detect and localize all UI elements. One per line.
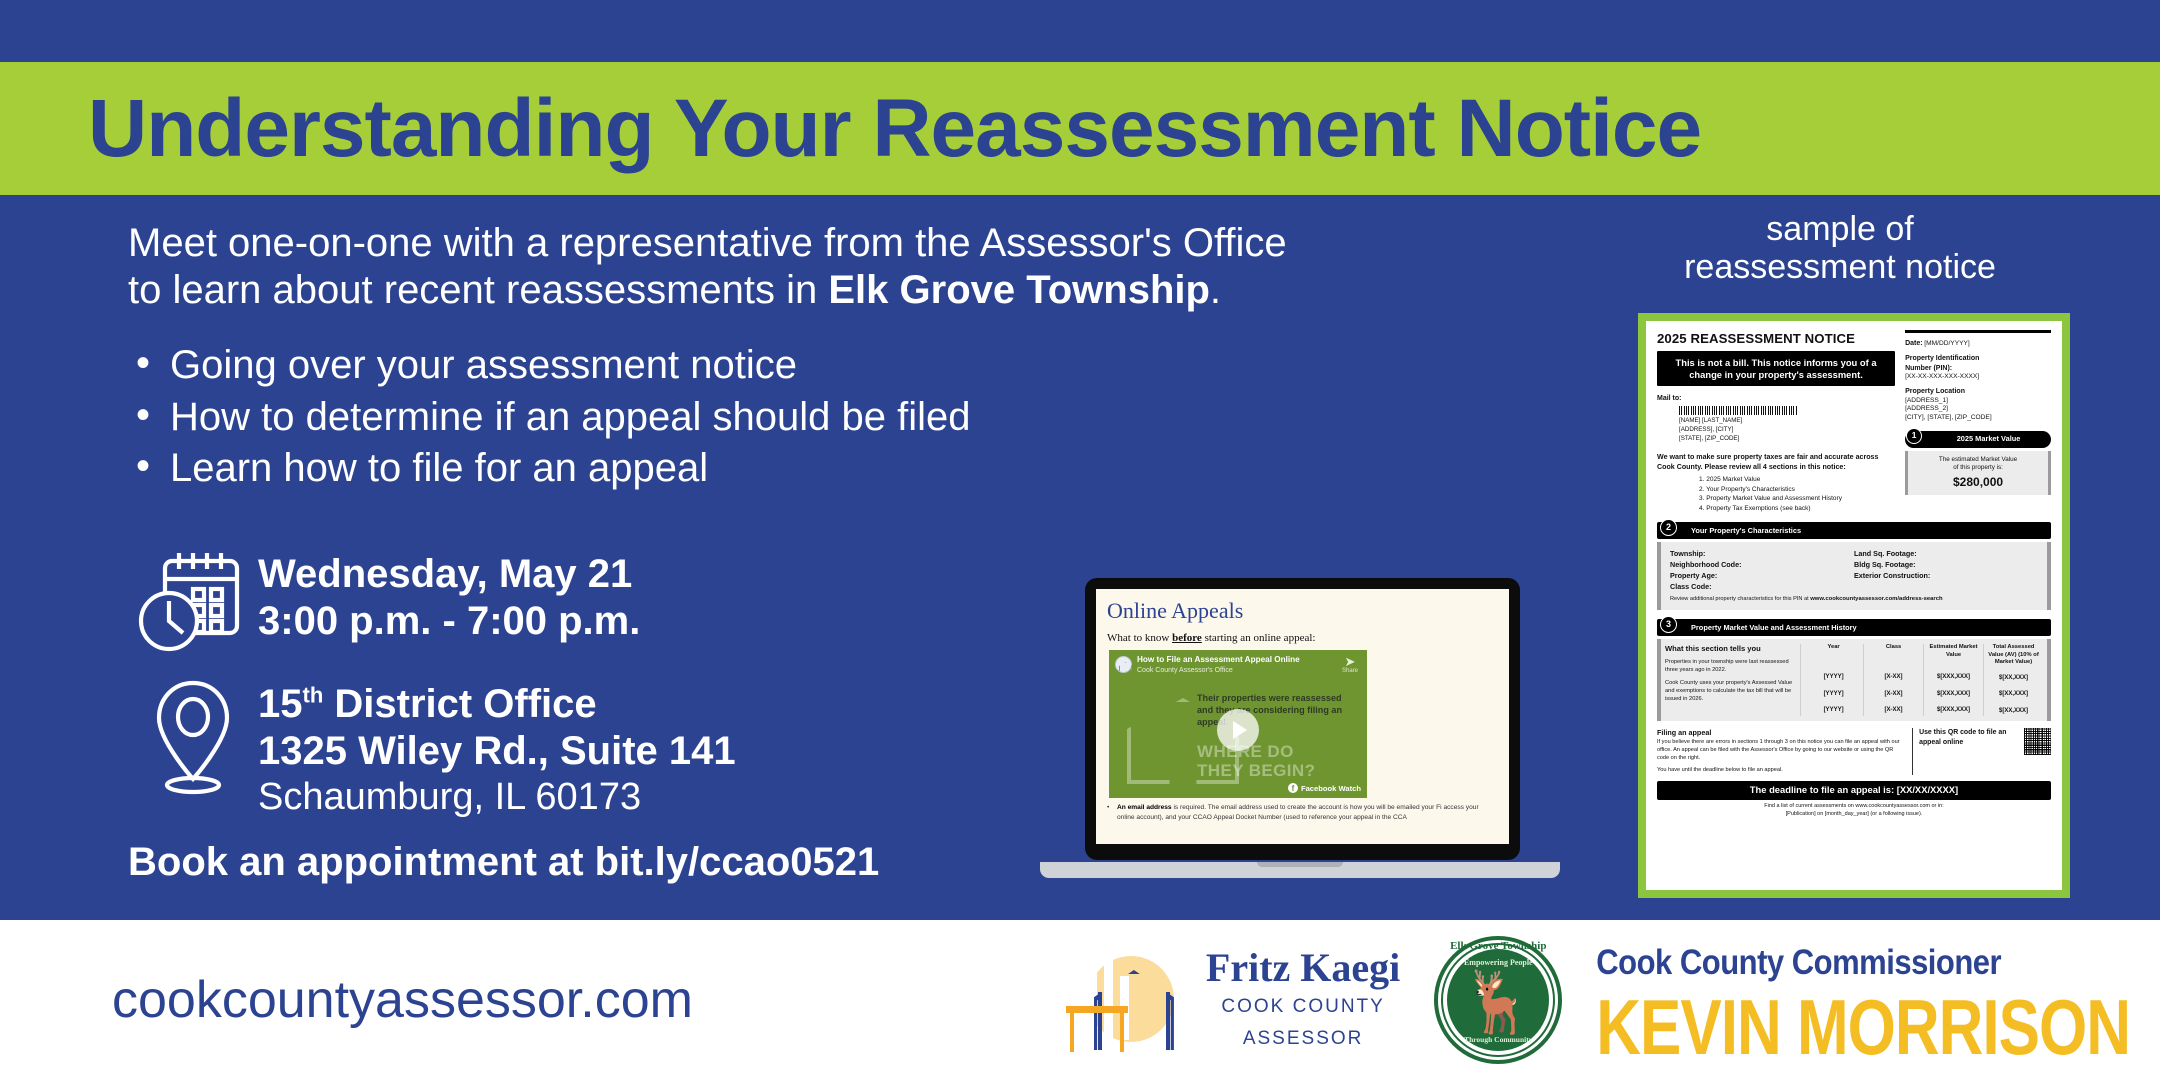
notice-date-line: Date: [MM/DD/YYYY] bbox=[1905, 339, 2051, 349]
table-cell: [YYYY] bbox=[1805, 674, 1862, 682]
play-button-icon[interactable] bbox=[1217, 709, 1259, 751]
characteristic-field: Bldg Sq. Footage: bbox=[1854, 559, 2038, 570]
fine-print-line: [Publication] on [month_day_year] (or a … bbox=[1657, 811, 2051, 819]
venue-rest: District Office bbox=[323, 682, 596, 726]
channel-avatar-icon bbox=[1115, 656, 1132, 673]
qr-instructions: Use this QR code to file an appeal onlin… bbox=[1919, 728, 2020, 748]
map-pin-icon bbox=[128, 675, 258, 797]
column-header: Total Assessed Value (AV) (10% of Market… bbox=[1985, 644, 2042, 667]
screen-subtitle: What to know before starting an online a… bbox=[1107, 632, 1498, 644]
video-big-line-1: WHERE DO bbox=[1197, 742, 1315, 761]
table-cell: $[XXX,XXX] bbox=[1925, 674, 1982, 682]
appeal-deadline-banner: The deadline to file an appeal is: [XX/X… bbox=[1657, 781, 2051, 800]
characteristics-note-url: www.cookcountyassessor.com/address-searc… bbox=[1810, 596, 1942, 602]
table-top-shape bbox=[1066, 1006, 1128, 1013]
history-column-year: Year [YYYY] [YYYY] [YYYY] bbox=[1804, 644, 1864, 716]
screen-note: • An email address is required. The emai… bbox=[1107, 803, 1498, 822]
market-value-amount: $280,000 bbox=[1911, 475, 2045, 491]
footer-website[interactable]: cookcountyassessor.com bbox=[112, 970, 693, 1030]
characteristics-right: Land Sq. Footage: Bldg Sq. Footage: Exte… bbox=[1854, 548, 2038, 593]
review-item: 1. 2025 Market Value bbox=[1699, 475, 1895, 484]
history-desc-p2: Cook County uses your property's Assesse… bbox=[1665, 679, 1796, 703]
laptop-lid: Online Appeals What to know before start… bbox=[1085, 578, 1520, 860]
section-2-title: Your Property's Characteristics bbox=[1657, 522, 2051, 539]
calendar-clock-icon bbox=[128, 545, 258, 657]
characteristics-left: Township: Neighborhood Code: Property Ag… bbox=[1670, 548, 1854, 593]
appeal-heading: Filing an appeal bbox=[1657, 728, 1906, 738]
footer-logos: Fritz Kaegi COOK COUNTY ASSESSOR Elk Gro… bbox=[1064, 936, 2160, 1064]
elk-head-icon: 🦌 bbox=[1461, 972, 1536, 1032]
screen-note-text: An email address is required. The email … bbox=[1117, 803, 1498, 822]
property-location-line: [ADDRESS_2] bbox=[1905, 405, 2051, 414]
review-item: 2. Your Property's Characteristics bbox=[1699, 485, 1895, 494]
platform-badge: f Facebook Watch bbox=[1288, 783, 1361, 793]
section-1-badge: 1 2025 Market Value bbox=[1905, 431, 2051, 448]
market-value-blurb-2: of this property is: bbox=[1911, 464, 2045, 473]
property-location-line: [ADDRESS_1] bbox=[1905, 397, 2051, 406]
kaegi-subtitle-1: COOK COUNTY bbox=[1206, 994, 1400, 1020]
seal-inner-bottom-text: Through Community bbox=[1434, 1035, 1562, 1044]
notice-top-left: 2025 REASSESSMENT NOTICE This is not a b… bbox=[1657, 330, 1895, 513]
characteristics-note-text: Review additional property characteristi… bbox=[1670, 596, 1810, 602]
table-cell: $[XXX,XXX] bbox=[1925, 691, 1982, 699]
notice-banner: This is not a bill. This notice informs … bbox=[1657, 351, 1895, 386]
list-item: Going over your assessment notice bbox=[128, 340, 1598, 391]
topics-list: Going over your assessment notice How to… bbox=[128, 340, 1598, 494]
table-cell: [X-XX] bbox=[1865, 691, 1922, 699]
column-header: Year bbox=[1805, 644, 1862, 666]
subtitle-post: starting an online appeal: bbox=[1202, 632, 1316, 644]
characteristics-box: Township: Neighborhood Code: Property Ag… bbox=[1657, 542, 2051, 610]
section-1-title: 2025 Market Value bbox=[1905, 431, 2051, 448]
table-cell: [YYYY] bbox=[1805, 691, 1862, 699]
notice-page: 2025 REASSESSMENT NOTICE This is not a b… bbox=[1646, 321, 2062, 890]
mail-line: [NAME] [LAST_NAME] bbox=[1679, 417, 1895, 426]
intro-line-1: Meet one-on-one with a representative fr… bbox=[128, 221, 1287, 265]
house-body-shape bbox=[1098, 992, 1170, 1050]
seal-inner-top-text: Empowering People bbox=[1434, 958, 1562, 967]
notice-fine-print: Find a list of current assessments on ww… bbox=[1657, 803, 2051, 818]
mail-to-label: Mail to: bbox=[1657, 394, 1895, 403]
reassessment-notice-image: 2025 REASSESSMENT NOTICE This is not a b… bbox=[1638, 313, 2070, 898]
market-value-box: The estimated Market Value of this prope… bbox=[1905, 451, 2051, 496]
qr-code-icon bbox=[2024, 728, 2051, 755]
fine-print-line: Find a list of current assessments on ww… bbox=[1657, 803, 2051, 811]
booking-link[interactable]: Book an appointment at bit.ly/ccao0521 bbox=[128, 840, 879, 885]
characteristic-field: Neighborhood Code: bbox=[1670, 559, 1854, 570]
page-title: Understanding Your Reassessment Notice bbox=[88, 88, 1701, 170]
intro-paragraph: Meet one-on-one with a representative fr… bbox=[128, 220, 1598, 314]
footer-bar: cookcountyassessor.com bbox=[0, 920, 2160, 1080]
appeal-body-2: You have until the deadline below to fil… bbox=[1657, 767, 1906, 775]
bullet-icon: • bbox=[1107, 803, 1113, 822]
characteristics-grid: Township: Neighborhood Code: Property Ag… bbox=[1670, 548, 2038, 593]
platform-label: Facebook Watch bbox=[1301, 784, 1361, 793]
assessment-history-table: What this section tells you Properties i… bbox=[1657, 639, 2051, 721]
pin-label-line2: Number (PIN): bbox=[1905, 364, 2051, 373]
note-bold: An email address bbox=[1117, 804, 1172, 811]
history-column-class: Class [X-XX] [X-XX] [X-XX] bbox=[1864, 644, 1924, 716]
characteristic-field: Township: bbox=[1670, 548, 1854, 559]
review-item: 3. Property Market Value and Assessment … bbox=[1699, 494, 1895, 503]
review-text: We want to make sure property taxes are … bbox=[1657, 453, 1895, 472]
venue-street: 1325 Wiley Rd., Suite 141 bbox=[258, 728, 736, 775]
characteristic-field: Exterior Construction: bbox=[1854, 570, 2038, 581]
characteristic-field: Property Age: bbox=[1670, 570, 1854, 581]
video-embed[interactable]: How to File an Assessment Appeal Online … bbox=[1109, 650, 1367, 798]
intro-line-2-prefix: to learn about recent reassessments in bbox=[128, 268, 828, 312]
commissioner-logo: Cook County Commissioner KEVIN MORRISON bbox=[1596, 949, 2130, 1052]
seal-top-text: Elk Grove Township bbox=[1434, 940, 1562, 952]
characteristic-field: Land Sq. Footage: bbox=[1854, 548, 2038, 559]
laptop-base bbox=[1040, 862, 1560, 878]
history-desc-p1: Properties in your township were last re… bbox=[1665, 658, 1796, 674]
kaegi-house-icon bbox=[1064, 948, 1192, 1052]
location-text: 15th District Office 1325 Wiley Rd., Sui… bbox=[258, 675, 736, 821]
kaegi-wordmark: Fritz Kaegi COOK COUNTY ASSESSOR bbox=[1206, 948, 1400, 1051]
qr-block: Use this QR code to file an appeal onlin… bbox=[1919, 728, 2051, 775]
notice-top-right: Date: [MM/DD/YYYY] Property Identificati… bbox=[1905, 330, 2051, 513]
video-meta: How to File an Assessment Appeal Online … bbox=[1137, 655, 1300, 675]
table-cell: [YYYY] bbox=[1805, 707, 1862, 715]
characteristic-field: Class Code: bbox=[1670, 581, 1854, 592]
property-location-label: Property Location bbox=[1905, 387, 2051, 396]
market-value-blurb-1: The estimated Market Value bbox=[1911, 456, 2045, 465]
commissioner-name: KEVIN MORRISON bbox=[1596, 990, 2130, 1068]
kaegi-subtitle-2: ASSESSOR bbox=[1206, 1026, 1400, 1052]
title-band: Understanding Your Reassessment Notice bbox=[0, 62, 2160, 195]
venue-city: Schaumburg, IL 60173 bbox=[258, 775, 736, 821]
elk-grove-township-seal: Elk Grove Township Empowering People 🦌 T… bbox=[1434, 936, 1562, 1064]
video-title: How to File an Assessment Appeal Online bbox=[1137, 655, 1300, 666]
history-description: What this section tells you Properties i… bbox=[1665, 644, 1801, 716]
laptop-screen: Online Appeals What to know before start… bbox=[1096, 589, 1509, 844]
divider bbox=[1905, 330, 2051, 333]
screen-title: Online Appeals bbox=[1107, 598, 1498, 624]
video-big-line-2: THEY BEGIN? bbox=[1197, 761, 1315, 780]
table-cell: [X-XX] bbox=[1865, 707, 1922, 715]
table-leg-shape bbox=[1070, 1010, 1074, 1052]
event-details: Wednesday, May 21 3:00 p.m. - 7:00 p.m. … bbox=[128, 545, 1028, 839]
list-item: Learn how to file for an appeal bbox=[128, 443, 1598, 494]
mail-line: [ADDRESS], [CITY] bbox=[1679, 426, 1895, 435]
table-cell: $[XX,XXX] bbox=[1985, 691, 2042, 699]
section-3-header: 3 Property Market Value and Assessment H… bbox=[1657, 619, 2051, 636]
datetime-text: Wednesday, May 21 3:00 p.m. - 7:00 p.m. bbox=[258, 545, 640, 645]
note-rest: is required. The email address used to c… bbox=[1172, 804, 1442, 811]
notice-top-section: 2025 REASSESSMENT NOTICE This is not a b… bbox=[1657, 330, 2051, 513]
location-row: 15th District Office 1325 Wiley Rd., Sui… bbox=[128, 675, 1028, 821]
venue-number: 15 bbox=[258, 682, 303, 726]
commissioner-title: Cook County Commissioner bbox=[1596, 944, 2130, 980]
township-name: Elk Grove Township bbox=[828, 268, 1210, 312]
left-content-column: Meet one-on-one with a representative fr… bbox=[128, 220, 1598, 494]
table-cell: $[XX,XXX] bbox=[1985, 675, 2042, 683]
share-icon: ➤ bbox=[1342, 655, 1358, 668]
venue-ordinal: th bbox=[303, 683, 324, 708]
facebook-icon: f bbox=[1288, 783, 1298, 793]
subtitle-emphasis: before bbox=[1172, 632, 1202, 644]
review-item: 4. Property Tax Exemptions (see back) bbox=[1699, 504, 1895, 513]
history-desc-heading: What this section tells you bbox=[1665, 644, 1796, 654]
table-cell: $[XX,XXX] bbox=[1985, 708, 2042, 716]
section-2-number: 2 bbox=[1660, 519, 1677, 536]
column-header: Class bbox=[1865, 644, 1922, 666]
review-items: 1. 2025 Market Value 2. Your Property's … bbox=[1699, 475, 1895, 513]
appeal-body: If you believe there are errors in secti… bbox=[1657, 739, 1906, 762]
sample-label-line2: reassessment notice bbox=[1600, 248, 2080, 286]
sample-notice-label: sample of reassessment notice bbox=[1600, 210, 2080, 286]
notice-heading: 2025 REASSESSMENT NOTICE bbox=[1657, 330, 1895, 347]
section-3-title: Property Market Value and Assessment His… bbox=[1657, 619, 2051, 636]
sample-label-line1: sample of bbox=[1600, 210, 2080, 248]
kaegi-logo: Fritz Kaegi COOK COUNTY ASSESSOR bbox=[1064, 948, 1400, 1052]
history-column-assessed-value: Total Assessed Value (AV) (10% of Market… bbox=[1984, 644, 2043, 716]
section-2-header: 2 Your Property's Characteristics bbox=[1657, 522, 2051, 539]
property-location-line: [CITY], [STATE], [ZIP_CODE] bbox=[1905, 414, 2051, 423]
notice-date-value: [MM/DD/YYYY] bbox=[1924, 340, 1969, 347]
barcode-graphic bbox=[1679, 406, 1797, 415]
table-cell: $[XXX,XXX] bbox=[1925, 707, 1982, 715]
appeal-text-block: Filing an appeal If you believe there ar… bbox=[1657, 728, 1913, 775]
characteristics-note: Review additional property characteristi… bbox=[1670, 596, 2038, 604]
video-channel: Cook County Assessor's Office bbox=[1137, 666, 1300, 675]
history-column-market-value: Estimated Market Value $[XXX,XXX] $[XXX,… bbox=[1924, 644, 1984, 716]
share-button[interactable]: ➤ Share bbox=[1342, 655, 1361, 674]
video-big-text: WHERE DO THEY BEGIN? bbox=[1197, 742, 1315, 780]
intro-line-2-suffix: . bbox=[1210, 268, 1221, 312]
history-columns: Year [YYYY] [YYYY] [YYYY] Class [X-XX] [… bbox=[1804, 644, 2043, 716]
table-cell: [X-XX] bbox=[1865, 674, 1922, 682]
pin-value: [XX-XX-XXX-XXX-XXXX] bbox=[1905, 373, 2051, 382]
section-1-number: 1 bbox=[1906, 428, 1922, 444]
kaegi-name: Fritz Kaegi bbox=[1206, 948, 1400, 988]
share-label: Share bbox=[1342, 668, 1358, 674]
column-header: Estimated Market Value bbox=[1925, 644, 1982, 666]
mail-line: [STATE], [ZIP_CODE] bbox=[1679, 435, 1895, 444]
mail-address-block: [NAME] [LAST_NAME] [ADDRESS], [CITY] [ST… bbox=[1679, 417, 1895, 443]
table-leg-shape bbox=[1120, 1010, 1124, 1052]
venue-name: 15th District Office bbox=[258, 681, 736, 728]
event-time: 3:00 p.m. - 7:00 p.m. bbox=[258, 598, 640, 645]
notice-date-label: Date: bbox=[1905, 340, 1923, 347]
video-header: How to File an Assessment Appeal Online … bbox=[1109, 650, 1367, 675]
poster-canvas: Understanding Your Reassessment Notice M… bbox=[0, 0, 2160, 1080]
laptop-mockup: Online Appeals What to know before start… bbox=[1040, 578, 1560, 878]
datetime-row: Wednesday, May 21 3:00 p.m. - 7:00 p.m. bbox=[128, 545, 1028, 657]
filing-appeal-section: Filing an appeal If you believe there ar… bbox=[1657, 728, 2051, 775]
pin-label-line1: Property Identification bbox=[1905, 354, 2051, 363]
event-date: Wednesday, May 21 bbox=[258, 551, 640, 598]
subtitle-pre: What to know bbox=[1107, 632, 1172, 644]
list-item: How to determine if an appeal should be … bbox=[128, 392, 1598, 443]
